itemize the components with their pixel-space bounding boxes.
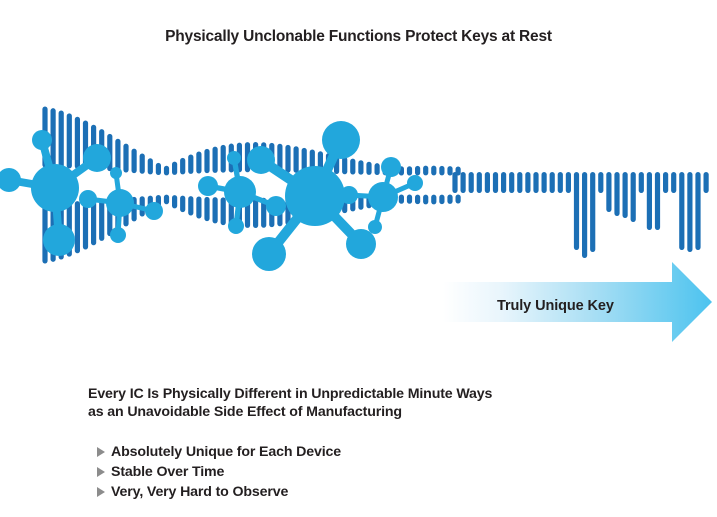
lead-line-1: Every IC Is Physically Different in Unpr… xyxy=(88,386,492,402)
list-item: Stable Over Time xyxy=(88,462,688,482)
bullet-label: Absolutely Unique for Each Device xyxy=(111,444,341,460)
arrow-label: Truly Unique Key xyxy=(497,298,614,314)
triangle-bullet-icon xyxy=(97,467,105,477)
list-item: Absolutely Unique for Each Device xyxy=(88,442,688,462)
body-text-block: Every IC Is Physically Different in Unpr… xyxy=(88,385,688,502)
bullet-list: Absolutely Unique for Each Device Stable… xyxy=(88,442,688,502)
infographic-canvas: Physically Unclonable Functions Protect … xyxy=(0,0,717,517)
puf-helix-graphic xyxy=(0,60,717,370)
helix-barcode-svg xyxy=(0,60,717,370)
page-title: Physically Unclonable Functions Protect … xyxy=(0,28,717,46)
bullet-label: Very, Very Hard to Observe xyxy=(111,484,288,500)
lead-statement: Every IC Is Physically Different in Unpr… xyxy=(88,385,688,422)
key-barcode-bars xyxy=(452,172,708,258)
triangle-bullet-icon xyxy=(97,447,105,457)
bullet-label: Stable Over Time xyxy=(111,464,224,480)
triangle-bullet-icon xyxy=(97,487,105,497)
list-item: Very, Very Hard to Observe xyxy=(88,482,688,502)
lead-line-2: as an Unavoidable Side Effect of Manufac… xyxy=(88,404,402,420)
